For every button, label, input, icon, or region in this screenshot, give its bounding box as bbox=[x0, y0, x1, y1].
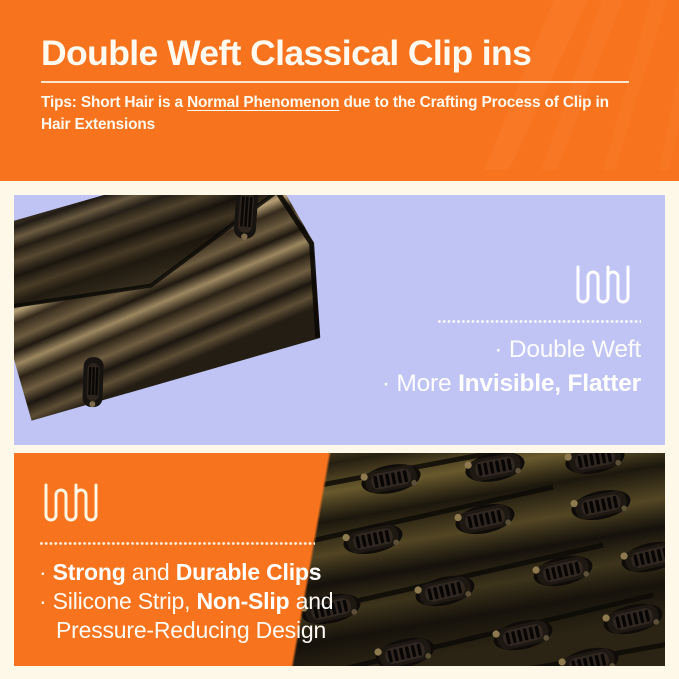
snap-clip bbox=[82, 357, 104, 408]
durable-clips-copy: · Strong and Durable Clips · Silicone St… bbox=[39, 453, 459, 646]
bot-line1-bold-b: Durable Clips bbox=[176, 559, 322, 585]
durable-clips-panel: · Strong and Durable Clips · Silicone St… bbox=[14, 453, 665, 666]
subtitle-pre: Tips: Short Hair is a bbox=[41, 94, 187, 111]
mid-line2-prefix: · More bbox=[382, 370, 458, 397]
mid-line2-bold: Invisible, Flatter bbox=[458, 370, 641, 397]
bot-icon-container bbox=[39, 481, 459, 529]
bot-line1-mid: and bbox=[126, 559, 176, 585]
product-infographic: Double Weft Classical Clip ins Tips: Sho… bbox=[0, 0, 679, 679]
subtitle-emphasis: Normal Phenomenon bbox=[187, 94, 339, 111]
bot-line2-prefix: · Silicone Strip, bbox=[39, 588, 196, 614]
mid-icon-container bbox=[311, 263, 641, 311]
bot-line2-bold: Non-Slip bbox=[196, 588, 289, 614]
bot-feature-line-3: Pressure-Reducing Design bbox=[39, 616, 459, 645]
bot-line1-bold-a: Strong bbox=[53, 559, 126, 585]
bot-feature-line-2: · Silicone Strip, Non-Slip and bbox=[39, 587, 459, 616]
hair-weft-wave-icon bbox=[574, 263, 636, 311]
mid-feature-line-1: · Double Weft bbox=[311, 335, 641, 365]
page-title: Double Weft Classical Clip ins bbox=[41, 35, 649, 72]
title-divider bbox=[41, 81, 629, 83]
double-weft-panel: · Double Weft · More Invisible, Flatter bbox=[14, 195, 665, 445]
header-content: Double Weft Classical Clip ins Tips: Sho… bbox=[41, 0, 649, 136]
mid-feature-line-2: · More Invisible, Flatter bbox=[311, 369, 641, 399]
bot-line2-post: and bbox=[289, 588, 333, 614]
header-banner: Double Weft Classical Clip ins Tips: Sho… bbox=[0, 0, 679, 181]
bot-dotted-divider bbox=[39, 542, 315, 545]
header-subtitle: Tips: Short Hair is a Normal Phenomenon … bbox=[41, 92, 631, 136]
double-weft-copy: · Double Weft · More Invisible, Flatter bbox=[311, 195, 641, 400]
bot-feature-line-1: · Strong and Durable Clips bbox=[39, 558, 459, 587]
hair-weft-wave-icon bbox=[42, 481, 104, 529]
bot-line1-prefix: · bbox=[39, 559, 53, 585]
mid-dotted-divider bbox=[437, 320, 641, 323]
